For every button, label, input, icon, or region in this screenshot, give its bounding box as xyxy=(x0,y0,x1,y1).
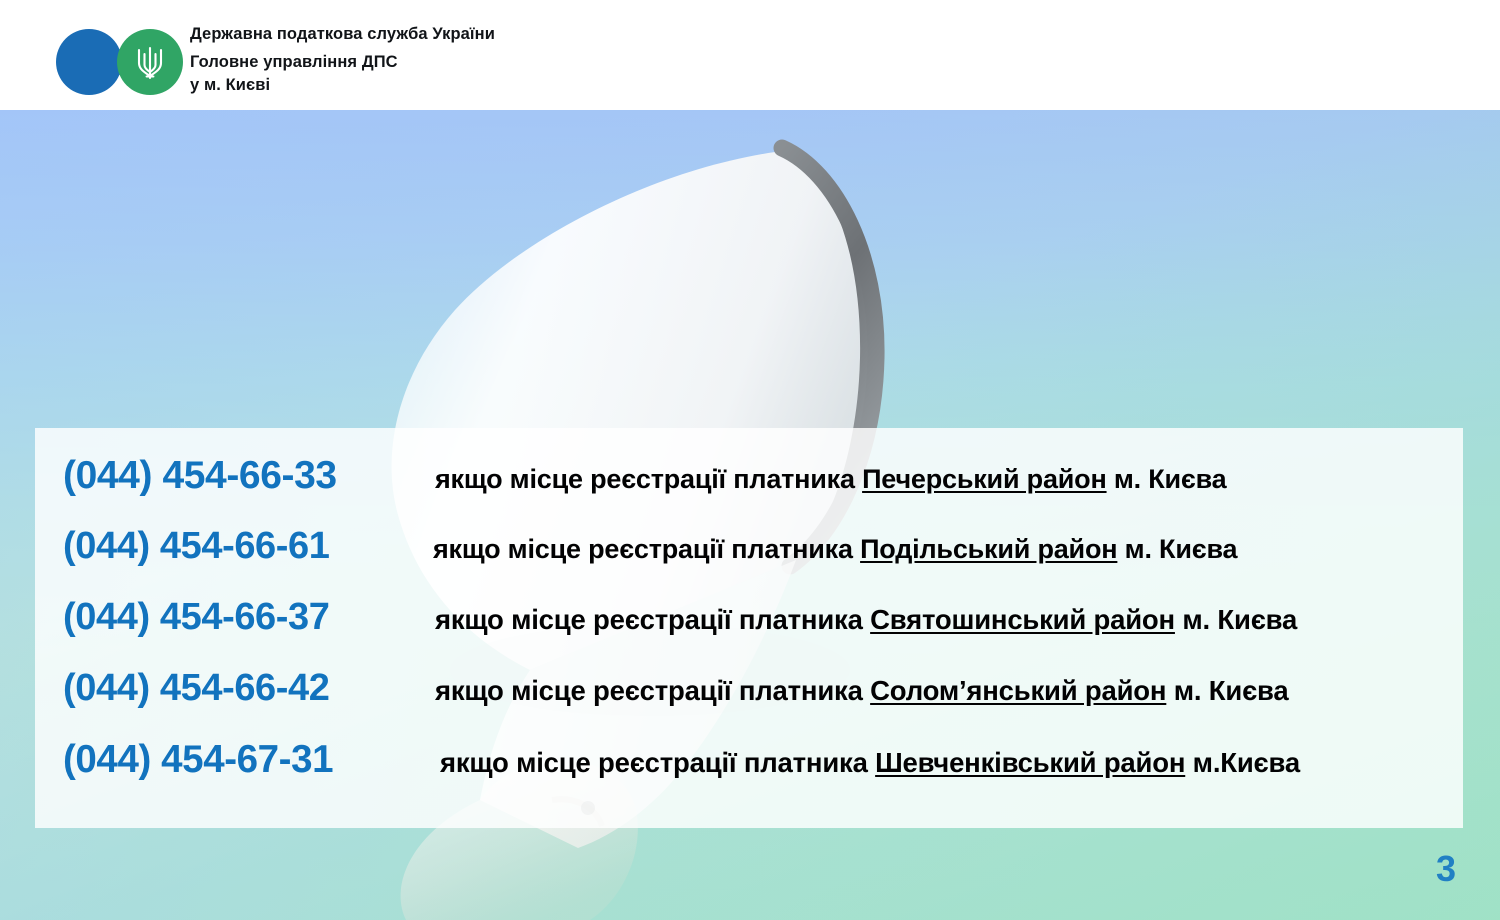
description-prefix: якщо місце реєстрації платника xyxy=(435,604,870,635)
logo-blue-circle-icon xyxy=(56,29,122,95)
contacts-panel: (044) 454-66-33 якщо місце реєстрації пл… xyxy=(35,428,1463,828)
phone-number[interactable]: (044) 454-66-42 xyxy=(35,667,435,710)
description-suffix: м.Києва xyxy=(1185,747,1300,778)
contact-row: (044) 454-66-33 якщо місце реєстрації пл… xyxy=(35,454,1463,525)
slide-canvas: (044) 454-66-33 якщо місце реєстрації пл… xyxy=(0,110,1500,920)
contacts-list: (044) 454-66-33 якщо місце реєстрації пл… xyxy=(35,428,1463,828)
description-suffix: м. Києва xyxy=(1107,464,1227,494)
description-prefix: якщо місце реєстрації платника xyxy=(433,534,860,564)
slide: Державна податкова служба України Головн… xyxy=(0,0,1500,920)
phone-number[interactable]: (044) 454-66-61 xyxy=(35,525,433,568)
contact-row: (044) 454-66-42 якщо місце реєстрації пл… xyxy=(35,667,1463,738)
description-suffix: м. Києва xyxy=(1166,675,1288,706)
description-prefix: якщо місце реєстрації платника xyxy=(440,747,875,778)
phone-number[interactable]: (044) 454-67-31 xyxy=(35,738,440,782)
header-org-text: Державна податкова служба України Головн… xyxy=(190,24,495,97)
ukraine-trident-icon xyxy=(134,43,166,83)
org-name-line-1: Державна податкова служба України xyxy=(190,24,495,45)
district-name: Святошинський район xyxy=(870,604,1175,635)
description-prefix: якщо місце реєстрації платника xyxy=(435,675,870,706)
org-name-line-3: у м. Києві xyxy=(190,74,495,97)
district-name: Печерський район xyxy=(862,464,1106,494)
contact-description: якщо місце реєстрації платника Святошинс… xyxy=(435,604,1297,636)
page-number: 3 xyxy=(1436,848,1456,890)
phone-number[interactable]: (044) 454-66-33 xyxy=(35,454,435,498)
dps-logo xyxy=(56,25,192,97)
description-suffix: м. Києва xyxy=(1117,534,1237,564)
description-suffix: м. Києва xyxy=(1175,604,1297,635)
phone-number[interactable]: (044) 454-66-37 xyxy=(35,596,435,639)
contact-description: якщо місце реєстрації платника Печерськи… xyxy=(435,464,1227,495)
description-prefix: якщо місце реєстрації платника xyxy=(435,464,862,494)
district-name: Солом’янський район xyxy=(870,675,1166,706)
contact-row: (044) 454-67-31 якщо місце реєстрації пл… xyxy=(35,738,1463,809)
contact-description: якщо місце реєстрації платника Подільськ… xyxy=(433,534,1237,565)
contact-row: (044) 454-66-37 якщо місце реєстрації пл… xyxy=(35,596,1463,667)
contact-description: якщо місце реєстрації платника Солом’янс… xyxy=(435,675,1289,707)
slide-header: Державна податкова служба України Головн… xyxy=(0,0,1500,110)
district-name: Шевченківський район xyxy=(875,747,1185,778)
org-name-line-2: Головне управління ДПС xyxy=(190,51,495,74)
district-name: Подільський район xyxy=(860,534,1117,564)
contact-description: якщо місце реєстрації платника Шевченків… xyxy=(440,747,1300,779)
contact-row: (044) 454-66-61 якщо місце реєстрації пл… xyxy=(35,525,1463,596)
